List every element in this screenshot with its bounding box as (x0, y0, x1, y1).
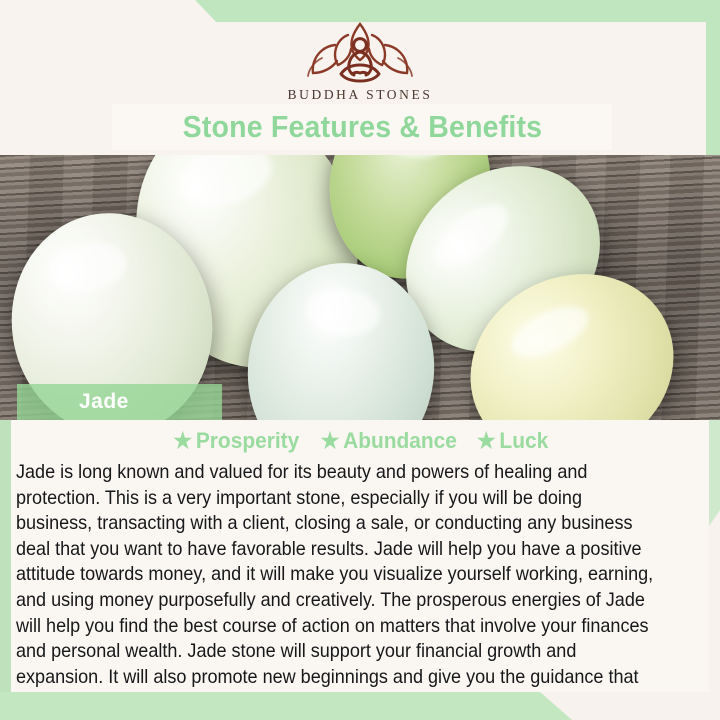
description-text: Jade is long known and valued for its be… (16, 460, 656, 716)
page-title: Stone Features & Benefits (182, 109, 542, 145)
photo-caption-label: Jade (79, 390, 129, 414)
keyword-row: ★Prosperity ★Abundance ★Luck (0, 428, 720, 454)
keyword-label: Luck (499, 428, 548, 453)
title-banner: Stone Features & Benefits (112, 104, 612, 150)
star-icon: ★ (477, 428, 496, 453)
brand-name: BUDDHA STONES (0, 87, 720, 103)
keyword-luck: ★Luck (477, 428, 548, 454)
infographic-page: BUDDHA STONES Stone Features & Benefits … (0, 0, 720, 720)
decorative-right-strip-top (706, 0, 720, 160)
keyword-label: Abundance (343, 428, 457, 453)
keyword-prosperity: ★Prosperity (173, 428, 299, 454)
star-icon: ★ (173, 428, 192, 453)
brand-logo: BUDDHA STONES (0, 18, 720, 103)
photo-caption-banner: Jade (17, 384, 222, 420)
keyword-abundance: ★Abundance (321, 428, 457, 454)
star-icon: ★ (321, 428, 340, 453)
keyword-label: Prosperity (196, 428, 299, 453)
stone-photo (0, 155, 720, 420)
lotus-meditation-figure-icon (304, 18, 416, 84)
